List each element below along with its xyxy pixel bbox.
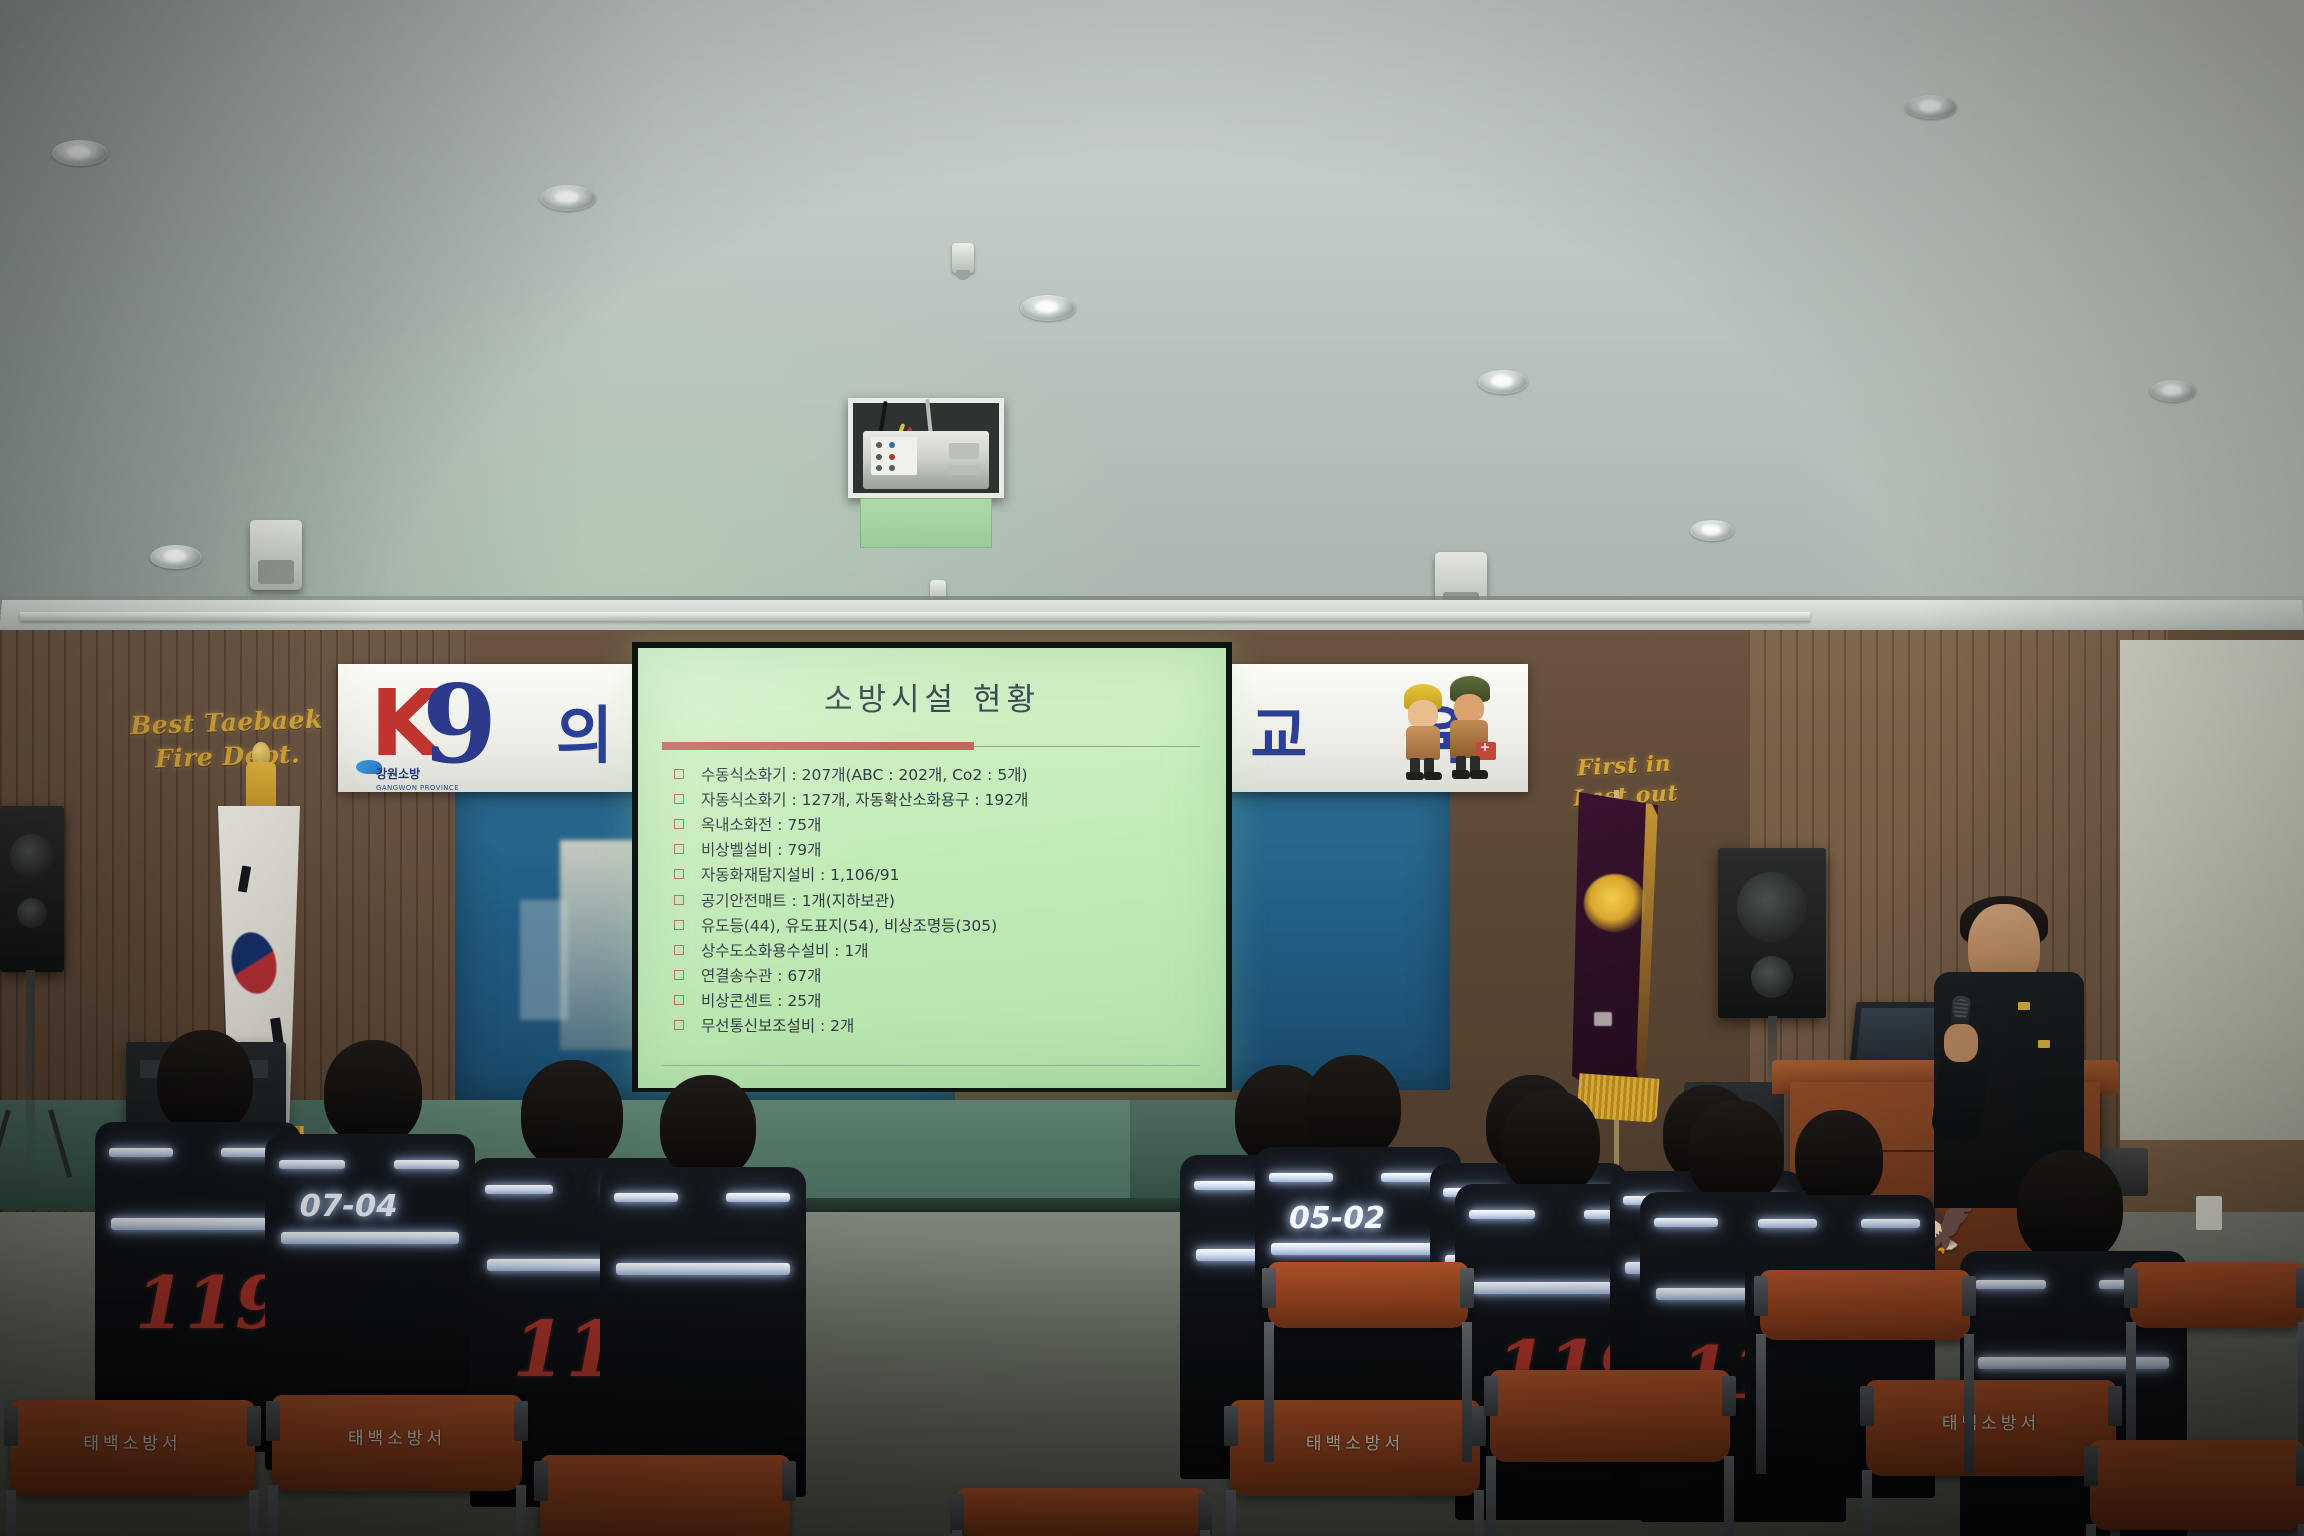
fire-service-flag — [1572, 792, 1658, 1122]
slide-bullet: 연결송수관 : 67개 — [674, 964, 1214, 989]
chair-mount-bracket — [2084, 1446, 2098, 1486]
auditorium-chair[interactable] — [1490, 1370, 1730, 1462]
chair-mount-bracket — [1460, 1268, 1474, 1308]
slide-bullet-text: 수동식소화기 : 207개(ABC : 202개, Co2 : 5개) — [701, 763, 1028, 788]
uniform-reflective-strip — [726, 1193, 790, 1202]
projector-recess-box — [848, 398, 1004, 498]
slide-bullet-text: 자동화재탐지설비 : 1,106/91 — [701, 863, 899, 888]
slide-bullet-text: 자동식소화기 : 127개, 자동확산소화용구 : 192개 — [701, 788, 1028, 813]
auditorium-chair[interactable]: 태백소방서 — [10, 1400, 255, 1496]
chair-support-post — [1200, 1530, 1210, 1536]
uniform-reflective-strip — [109, 1148, 173, 1157]
audience-head — [1502, 1090, 1600, 1196]
chair-mount-bracket — [2296, 1268, 2304, 1308]
presenter-badge — [2038, 1040, 2050, 1048]
mascot-face — [1454, 694, 1484, 722]
chair-station-label: 태백소방서 — [272, 1424, 522, 1449]
slide-bullet-text: 비상콘센트 : 25개 — [701, 989, 821, 1014]
chair-mount-bracket — [1484, 1376, 1498, 1416]
uniform-reflective-strip — [1861, 1219, 1920, 1228]
slide-accent-bar — [662, 742, 974, 750]
k9-logo-9: 9 — [422, 674, 497, 777]
chair-station-label: 태백소방서 — [10, 1429, 255, 1454]
chair-support-post — [1486, 1456, 1496, 1536]
audience-member — [600, 1075, 810, 1495]
bullet-checkbox-icon — [674, 844, 684, 854]
chair-support-post — [1226, 1490, 1236, 1536]
slide-bullet: 유도등(44), 유도표지(54), 비상조명등(305) — [674, 914, 1214, 939]
slide-title: 소방시설 현황 — [638, 674, 1226, 719]
slide-bullet: 수동식소화기 : 207개(ABC : 202개, Co2 : 5개) — [674, 763, 1214, 788]
speaker-stand-left — [26, 970, 35, 1170]
bullet-checkbox-icon — [674, 920, 684, 930]
slide-bullet-text: 공기안전매트 : 1개(지하보관) — [701, 889, 895, 914]
uniform-reflective-band — [616, 1263, 790, 1275]
chair-support-post — [6, 1490, 16, 1536]
chair-mount-bracket — [1962, 1276, 1976, 1316]
audience-head — [157, 1030, 253, 1134]
projector-cable-grey — [925, 399, 933, 435]
slide-bullet: 비상콘센트 : 25개 — [674, 989, 1214, 1014]
uniform-reflective-strip — [485, 1185, 553, 1194]
chair-mount-bracket — [950, 1494, 964, 1534]
chair-support-post — [1462, 1322, 1472, 1462]
chair-backrest — [2090, 1440, 2304, 1530]
chair-mount-bracket — [4, 1406, 18, 1446]
chair-mount-bracket — [534, 1461, 548, 1501]
slide-bullet: 상수도소화용수설비 : 1개 — [674, 939, 1214, 964]
chair-mount-bracket — [782, 1461, 796, 1501]
chair-backrest — [956, 1488, 1206, 1536]
bullet-checkbox-icon — [674, 895, 684, 905]
chair-support-post — [249, 1490, 259, 1536]
audience-head — [2017, 1150, 2123, 1264]
chair-mount-bracket — [514, 1401, 528, 1441]
slide-bullet-text: 연결송수관 : 67개 — [701, 964, 821, 989]
ceiling-shadow-left — [0, 0, 760, 640]
recessed-downlight — [1020, 295, 1076, 321]
uniform-unit-number: 07-04 — [300, 1189, 398, 1224]
uniform-unit-number: 05-02 — [1289, 1201, 1385, 1236]
chair-backrest — [1268, 1262, 1468, 1328]
auditorium-chair[interactable] — [2090, 1440, 2304, 1530]
chair-mount-bracket — [247, 1406, 261, 1446]
chair-support-post — [516, 1485, 526, 1536]
k9-logo-sub-en: GANGWON PROVINCE — [376, 784, 459, 792]
projector-vent — [949, 465, 979, 475]
chair-station-label: 태백소방서 — [1866, 1409, 2116, 1434]
uniform-reflective-strip — [394, 1160, 459, 1169]
chair-support-post — [2086, 1524, 2096, 1536]
slide-bullet: 자동화재탐지설비 : 1,106/91 — [674, 863, 1214, 888]
projector-control-panel — [871, 437, 917, 475]
uniform-reflective-strip — [1194, 1181, 1257, 1190]
auditorium-chair[interactable] — [1268, 1262, 1468, 1328]
chair-mount-bracket — [266, 1401, 280, 1441]
chair-support-post — [1724, 1456, 1734, 1536]
recessed-downlight — [1478, 370, 1528, 394]
ceiling-speaker-left — [250, 520, 302, 590]
chair-support-post — [1964, 1334, 1974, 1474]
audience-head — [1305, 1055, 1401, 1159]
wall-motto-left: Best Taebaek Fire Dept. — [111, 702, 343, 777]
uniform-reflective-band — [111, 1218, 285, 1230]
slide-bullet-list: 수동식소화기 : 207개(ABC : 202개, Co2 : 5개)자동식소화… — [674, 763, 1214, 1039]
uniform-reflective-band — [1271, 1243, 1445, 1255]
audience-uniform-jacket — [600, 1167, 806, 1497]
mascot-back — [1442, 676, 1498, 780]
bullet-checkbox-icon — [674, 1020, 684, 1030]
firefighter-mascot-icons — [1390, 676, 1510, 780]
presenter-badge — [2018, 1002, 2030, 1010]
uniform-reflective-band — [1978, 1357, 2169, 1369]
chair-backrest — [1490, 1370, 1730, 1462]
audience-head — [324, 1040, 422, 1146]
chair-backrest — [540, 1455, 790, 1536]
mascot-jacket — [1406, 726, 1440, 760]
k9-logo: K 9 강원소방 GANGWON PROVINCE — [360, 674, 540, 782]
auditorium-chair[interactable]: 태백소방서 — [1866, 1380, 2116, 1476]
backdrop-reflection-secondary — [520, 900, 568, 1020]
uniform-reflective-strip — [614, 1193, 678, 1202]
bullet-checkbox-icon — [674, 769, 684, 779]
chair-backrest — [1760, 1270, 1970, 1340]
uniform-reflective-strip — [1758, 1219, 1817, 1228]
chair-mount-bracket — [2124, 1268, 2138, 1308]
uniform-reflective-strip — [1269, 1173, 1333, 1182]
sprinkler-head — [952, 243, 974, 273]
soffit-rail — [20, 612, 1810, 621]
chair-mount-bracket — [2296, 1446, 2304, 1486]
chair-mount-bracket — [1262, 1268, 1276, 1308]
slide-bullet-text: 유도등(44), 유도표지(54), 비상조명등(305) — [701, 914, 997, 939]
slide-bullet: 무선통신보조설비 : 2개 — [674, 1014, 1214, 1039]
slide-bullet: 비상벨설비 : 79개 — [674, 838, 1214, 863]
chair-mount-bracket — [2108, 1386, 2122, 1426]
chair-mount-bracket — [1198, 1494, 1212, 1534]
auditorium-chair[interactable]: 태백소방서 — [272, 1395, 522, 1491]
auditorium-chair[interactable] — [956, 1488, 1206, 1536]
slide-bullet: 공기안전매트 : 1개(지하보관) — [674, 889, 1214, 914]
projection-screen: 소방시설 현황 수동식소화기 : 207개(ABC : 202개, Co2 : … — [638, 648, 1226, 1088]
mascot-face — [1408, 700, 1438, 728]
audience-head — [1795, 1110, 1883, 1206]
recessed-downlight — [1690, 520, 1734, 541]
k9-logo-sub-kr: 강원소방 — [376, 765, 420, 782]
slide-footer-rule — [662, 1065, 1200, 1066]
uniform-reflective-strip — [1654, 1218, 1718, 1227]
bullet-checkbox-icon — [674, 869, 684, 879]
chair-backrest — [2130, 1262, 2304, 1328]
uniform-119-logo: 119 — [135, 1260, 285, 1345]
audience-head — [660, 1075, 756, 1179]
bullet-checkbox-icon — [674, 945, 684, 955]
projector-lens — [949, 443, 979, 459]
recessed-downlight — [1905, 95, 1957, 119]
slide-bullet-text: 비상벨설비 : 79개 — [701, 838, 821, 863]
auditorium-chair[interactable] — [540, 1455, 790, 1536]
auditorium-chair[interactable] — [1760, 1270, 1970, 1340]
chair-mount-bracket — [1224, 1406, 1238, 1446]
slide-bullet-text: 옥내소화전 : 75개 — [701, 813, 821, 838]
wall-outlet — [2196, 1196, 2222, 1230]
recessed-downlight — [540, 185, 596, 211]
chair-mount-bracket — [1754, 1276, 1768, 1316]
chair-support-post — [1862, 1470, 1872, 1536]
slide-bullet: 옥내소화전 : 75개 — [674, 813, 1214, 838]
uniform-reflective-band — [281, 1232, 458, 1244]
bullet-checkbox-icon — [674, 970, 684, 980]
chair-support-post — [2298, 1524, 2304, 1536]
bullet-checkbox-icon — [674, 794, 684, 804]
slide-bullet-text: 상수도소화용수설비 : 1개 — [701, 939, 869, 964]
chair-support-post — [952, 1530, 962, 1536]
chair-support-post — [1474, 1490, 1484, 1536]
bullet-checkbox-icon — [674, 819, 684, 829]
projector-light-spill — [860, 498, 992, 548]
recessed-downlight — [150, 545, 202, 569]
uniform-reflective-strip — [279, 1160, 344, 1169]
chair-mount-bracket — [1860, 1386, 1874, 1426]
presenter-hand — [1944, 1024, 1978, 1062]
pa-speaker-right — [1718, 848, 1826, 1018]
auditorium-chair[interactable] — [2130, 1262, 2304, 1328]
uniform-reflective-strip — [1975, 1280, 2045, 1289]
slide-bullet-text: 무선통신보조설비 : 2개 — [701, 1014, 854, 1039]
bullet-checkbox-icon — [674, 995, 684, 1005]
flag-emblem-icon — [1584, 874, 1646, 932]
chair-support-post — [268, 1485, 278, 1536]
auditorium-scene: Best Taebaek Fire Dept. First in Last ou… — [0, 0, 2304, 1536]
chair-support-post — [1264, 1322, 1274, 1462]
projector-body — [863, 431, 989, 489]
pa-speaker-left — [0, 806, 64, 972]
recessed-downlight — [52, 140, 108, 166]
slide-bullet: 자동식소화기 : 127개, 자동확산소화용구 : 192개 — [674, 788, 1214, 813]
chair-support-post — [1756, 1334, 1766, 1474]
taeguk-symbol-icon — [226, 928, 282, 998]
recessed-downlight — [2150, 380, 2196, 402]
uniform-reflective-strip — [1469, 1210, 1534, 1219]
projector-cable-black — [878, 401, 887, 435]
chair-mount-bracket — [1722, 1376, 1736, 1416]
